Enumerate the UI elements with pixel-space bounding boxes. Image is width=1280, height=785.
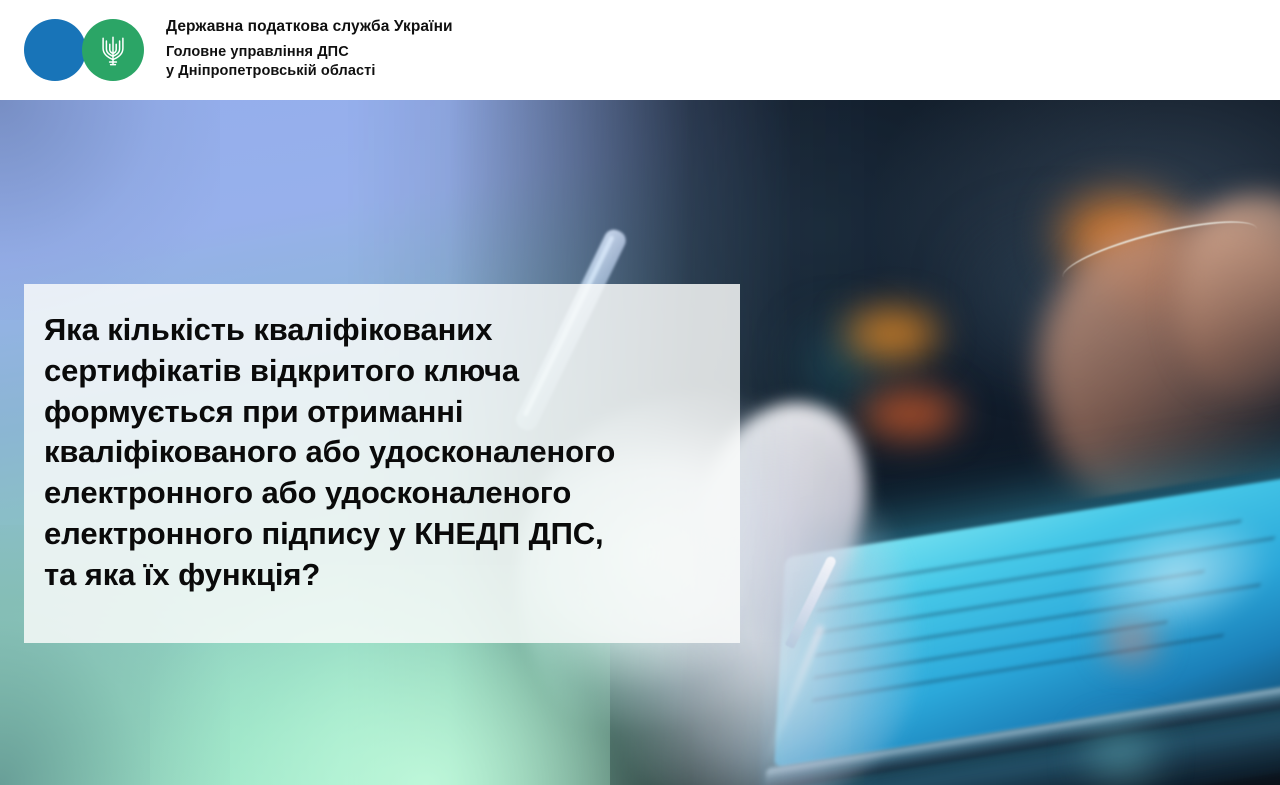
site-header: Державна податкова служба України Головн…	[0, 0, 1280, 100]
org-subtitle: Головне управління ДПС у Дніпропетровськ…	[166, 43, 453, 81]
org-title: Державна податкова служба України	[166, 18, 453, 36]
org-titles: Державна податкова служба України Головн…	[166, 18, 453, 81]
trident-icon	[82, 19, 144, 81]
logo[interactable]	[24, 19, 144, 81]
logo-circle-blue	[24, 19, 86, 81]
question-card: Яка кількість кваліфікованих сертифікаті…	[24, 284, 740, 643]
page-root: Державна податкова служба України Головн…	[0, 0, 1280, 785]
question-text: Яка кількість кваліфікованих сертифікаті…	[44, 310, 710, 595]
